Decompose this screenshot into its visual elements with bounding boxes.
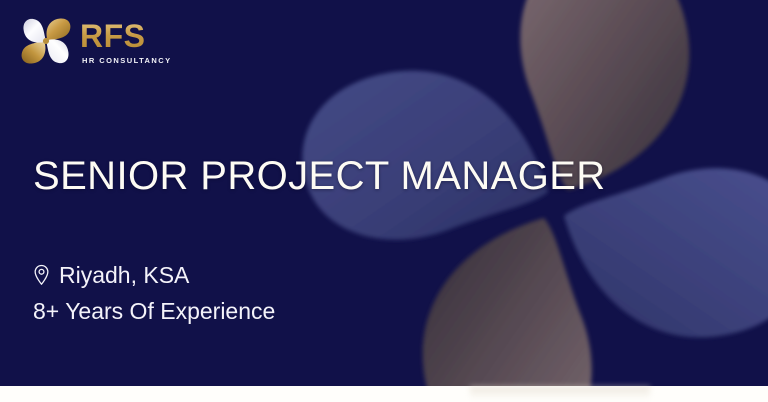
job-title: SENIOR PROJECT MANAGER: [33, 155, 606, 197]
job-location-text: Riyadh, KSA: [59, 262, 189, 288]
logo-wordmark: RFS: [80, 20, 172, 52]
band-shadow-smudge: [470, 386, 650, 402]
job-experience-row: 8+ Years Of Experience: [33, 298, 275, 324]
logo-tagline: HR CONSULTANCY: [82, 56, 172, 65]
job-meta: Riyadh, KSA 8+ Years Of Experience: [33, 262, 275, 325]
job-location-row: Riyadh, KSA: [33, 262, 275, 288]
brand-logo: RFS HR CONSULTANCY: [18, 13, 172, 69]
job-experience-text: 8+ Years Of Experience: [33, 298, 275, 324]
banner-background: RFS HR CONSULTANCY SENIOR PROJECT MANAGE…: [0, 0, 768, 386]
job-posting-banner: RFS HR CONSULTANCY SENIOR PROJECT MANAGE…: [0, 0, 768, 402]
rfs-pinwheel-logo-icon: [18, 13, 74, 69]
location-pin-icon: [33, 264, 50, 286]
bottom-white-band: [0, 386, 768, 402]
